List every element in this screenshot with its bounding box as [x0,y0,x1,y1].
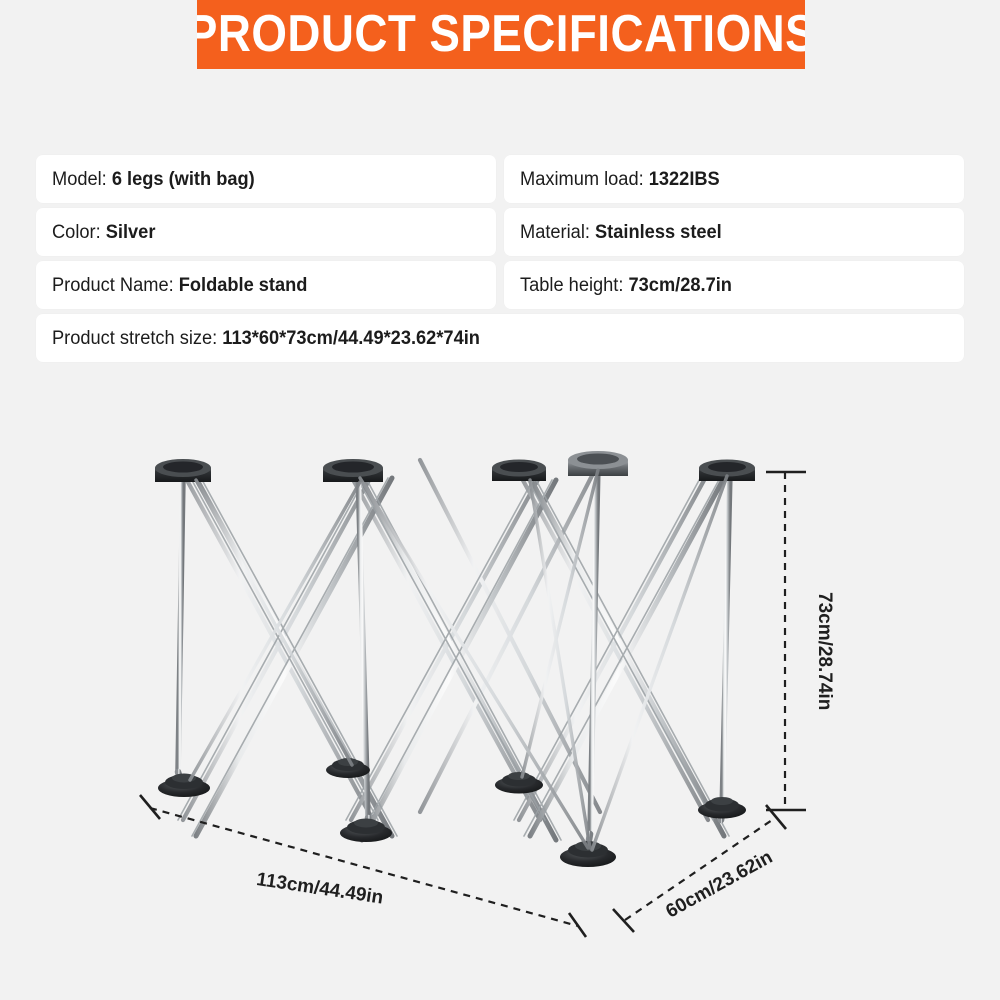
spec-row: Color: Silver Material: Stainless steel [36,208,964,256]
top-cap-icon [323,459,383,482]
spec-text-product-stretch-size: Product stretch size: 113*60*73cm/44.49*… [52,329,480,348]
spec-text-maximum-load: Maximum load: 1322IBS [520,170,720,189]
spec-text-model: Model: 6 legs (with bag) [52,170,255,189]
spec-row: Model: 6 legs (with bag) Maximum load: 1… [36,155,964,203]
spec-text-table-height: Table height: 73cm/28.7in [520,276,732,295]
spec-value-table-height: 73cm/28.7in [629,275,732,296]
spec-cell-model: Model: 6 legs (with bag) [36,155,496,203]
spec-value-color: Silver [106,222,156,243]
frame-leg-extensions [178,772,722,840]
frame-front-struts [196,478,724,840]
spec-label-material: Material: [520,222,595,243]
page-title: PRODUCT SPECIFICATIONS [197,8,805,60]
top-cap-icon [155,459,211,482]
spec-cell-color: Color: Silver [36,208,496,256]
spec-row: Product Name: Foldable stand Table heigh… [36,261,964,309]
spec-label-product-name: Product Name: [52,275,179,296]
dimension-label-height: 73cm/28.74in [815,592,834,710]
header-banner: PRODUCT SPECIFICATIONS [197,0,805,69]
spec-text-color: Color: Silver [52,223,155,242]
spec-cell-product-name: Product Name: Foldable stand [36,261,496,309]
spec-label-product-stretch-size: Product stretch size: [52,328,222,349]
top-cap-icon [492,460,546,482]
spec-label-color: Color: [52,222,106,243]
spec-cell-maximum-load: Maximum load: 1322IBS [504,155,964,203]
specifications-table: Model: 6 legs (with bag) Maximum load: 1… [36,155,964,367]
spec-value-maximum-load: 1322IBS [649,169,720,190]
spec-text-material: Material: Stainless steel [520,223,722,242]
spec-text-product-name: Product Name: Foldable stand [52,276,307,295]
foot-pad-group [158,758,746,867]
spec-value-product-name: Foldable stand [179,275,308,296]
product-illustration [0,420,1000,1000]
spec-value-material: Stainless steel [595,222,722,243]
spec-cell-product-stretch-size: Product stretch size: 113*60*73cm/44.49*… [36,314,964,362]
foot-pad-icon [495,772,543,794]
spec-cell-material: Material: Stainless steel [504,208,964,256]
top-cap-group [155,451,755,482]
spec-label-table-height: Table height: [520,275,629,296]
spec-value-product-stretch-size: 113*60*73cm/44.49*23.62*74in [222,328,480,349]
spec-value-model: 6 legs (with bag) [112,169,255,190]
spec-row: Product stretch size: 113*60*73cm/44.49*… [36,314,964,362]
spec-label-maximum-load: Maximum load: [520,169,649,190]
spec-cell-table-height: Table height: 73cm/28.7in [504,261,964,309]
spec-label-model: Model: [52,169,112,190]
